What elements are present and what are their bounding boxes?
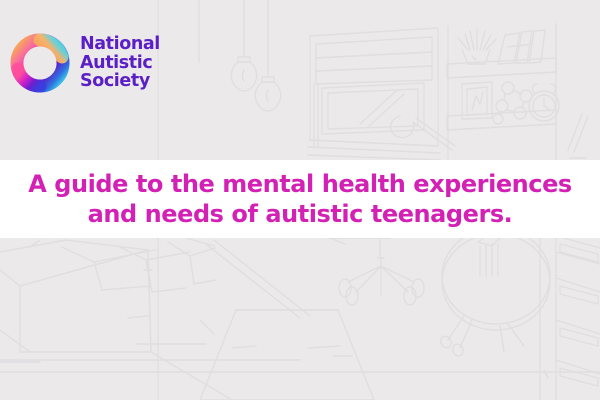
floor-texture: [128, 316, 352, 356]
wall-shelf: [447, 24, 556, 160]
brand-wordmark: National Autistic Society: [80, 35, 160, 92]
brand-logo[interactable]: National Autistic Society: [10, 33, 160, 93]
hanging-light-bulb: [231, 0, 257, 91]
books: [498, 30, 545, 64]
title-band: A guide to the mental health experiences…: [0, 160, 600, 238]
floor-edge: [151, 240, 310, 400]
bed-with-pillows: [0, 238, 300, 360]
wordmark-line-2: Autistic: [80, 54, 160, 73]
desk: [0, 270, 374, 400]
wordmark-line-1: National: [80, 35, 160, 54]
poster-canvas: National Autistic Society A guide to the…: [0, 0, 600, 400]
radiator: [540, 230, 600, 400]
alarm-clock: [529, 84, 559, 121]
national-autistic-society-ring-icon: [10, 33, 70, 93]
office-chair: [328, 238, 424, 305]
molecule-model: [493, 82, 532, 124]
picture-frame: [462, 82, 492, 119]
hanging-light-bulb: [255, 0, 281, 111]
window-with-blinds: [308, 28, 440, 160]
wordmark-line-3: Society: [80, 72, 160, 91]
page-title-line-2: and needs of autistic teenagers.: [88, 199, 513, 229]
desk-lamp: [390, 116, 455, 150]
potted-plant: [458, 29, 496, 64]
page-title-line-1: A guide to the mental health experiences: [28, 169, 572, 199]
drum: [439, 228, 550, 357]
